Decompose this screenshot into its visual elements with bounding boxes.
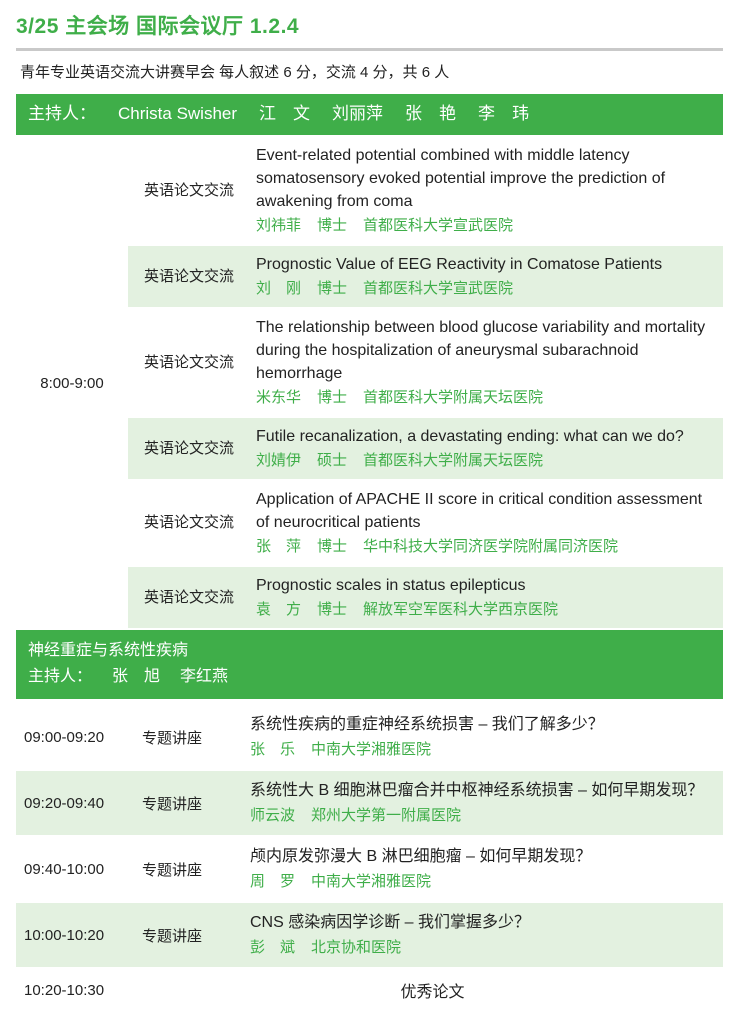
- session-time: 8:00-9:00: [16, 137, 128, 630]
- schedule-row: 09:20-09:40 专题讲座 系统性大 B 细胞淋巴瘤合并中枢神经系统损害 …: [16, 771, 723, 837]
- schedule-row: 10:00-10:20 专题讲座 CNS 感染病因学诊断 – 我们掌握多少？ 彭…: [16, 903, 723, 969]
- chair-name-3: 张 艳: [405, 104, 456, 123]
- chair-name-4: 李 玮: [478, 104, 529, 123]
- row-body: Futile recanalization, a devastating end…: [250, 418, 723, 479]
- paper-speaker: 刘 刚博士首都医科大学宣武医院: [256, 277, 713, 300]
- chair-name-0: Christa Swisher: [118, 104, 237, 123]
- speaker-degree: 博士: [317, 538, 347, 555]
- table-row: 英语论文交流 The relationship between blood gl…: [128, 309, 723, 418]
- paper-speaker: 张 萍博士华中科技大学同济医学院附属同济医院: [256, 535, 713, 558]
- section-band: 神经重症与系统性疾病 主持人：张 旭李红燕: [16, 630, 723, 699]
- speaker-name: 张 萍: [256, 538, 301, 555]
- page-title: 3/25 主会场 国际会议厅 1.2.4: [16, 14, 723, 48]
- row-category: 英语论文交流: [128, 567, 250, 628]
- row-body: The relationship between blood glucose v…: [250, 309, 723, 416]
- speaker-degree: 博士: [317, 601, 347, 618]
- speaker-name: 彭 斌: [250, 939, 295, 956]
- speaker-org: 中南大学湘雅医院: [311, 741, 431, 758]
- speaker-degree: 博士: [317, 389, 347, 406]
- schedule-body: 系统性大 B 细胞淋巴瘤合并中枢神经系统损害 – 如何早期发现？ 师云波郑州大学…: [250, 771, 723, 835]
- schedule-time: 09:00-09:20: [16, 705, 142, 769]
- schedule-time: 10:00-10:20: [16, 903, 142, 967]
- table-row: 英语论文交流 Futile recanalization, a devastat…: [128, 418, 723, 481]
- session-subtitle: 青年专业英语交流大讲赛早会 每人叙述 6 分，交流 4 分，共 6 人: [16, 60, 723, 94]
- paper-title: Prognostic scales in status epilepticus: [256, 574, 713, 597]
- section-chairs: 主持人：张 旭李红燕: [28, 664, 711, 690]
- schedule-time: 09:40-10:00: [16, 837, 142, 901]
- table-row: 英语论文交流 Application of APACHE II score in…: [128, 481, 723, 567]
- schedule-type: 专题讲座: [142, 771, 250, 835]
- session-block: 8:00-9:00 英语论文交流 Event-related potential…: [16, 137, 723, 630]
- section-chair-0: 张 旭: [112, 668, 160, 685]
- schedule-time: 09:20-09:40: [16, 771, 142, 835]
- row-body: Prognostic scales in status epilepticus …: [250, 567, 723, 628]
- speaker-name: 米东华: [256, 389, 301, 406]
- section-chair-label: 主持人：: [28, 668, 92, 685]
- schedule-row: 09:40-10:00 专题讲座 颅内原发弥漫大 B 淋巴细胞瘤 – 如何早期发…: [16, 837, 723, 903]
- schedule-title: 系统性大 B 细胞淋巴瘤合并中枢神经系统损害 – 如何早期发现？: [250, 779, 713, 803]
- speaker-org: 中南大学湘雅医院: [311, 873, 431, 890]
- speaker-org: 解放军空军医科大学西京医院: [363, 601, 558, 618]
- chair-name-1: 江 文: [259, 104, 310, 123]
- schedule-body: 系统性疾病的重症神经系统损害 – 我们了解多少？ 张 乐中南大学湘雅医院: [250, 705, 723, 769]
- schedule-body: 颅内原发弥漫大 B 淋巴细胞瘤 – 如何早期发现？ 周 罗中南大学湘雅医院: [250, 837, 723, 901]
- speaker-name: 张 乐: [250, 741, 295, 758]
- session-rows: 英语论文交流 Event-related potential combined …: [128, 137, 723, 630]
- paper-speaker: 米东华博士首都医科大学附属天坛医院: [256, 386, 713, 409]
- schedule-time: 10:20-10:30: [16, 969, 142, 1011]
- speaker-name: 师云波: [250, 807, 295, 824]
- speaker-org: 首都医科大学附属天坛医院: [363, 389, 543, 406]
- paper-speaker: 袁 方博士解放军空军医科大学西京医院: [256, 598, 713, 621]
- table-row: 英语论文交流 Event-related potential combined …: [128, 137, 723, 246]
- row-body: Event-related potential combined with mi…: [250, 137, 723, 244]
- row-body: Application of APACHE II score in critic…: [250, 481, 723, 565]
- paper-speaker: 刘婧伊硕士首都医科大学附属天坛医院: [256, 449, 713, 472]
- schedule-body: CNS 感染病因学诊断 – 我们掌握多少？ 彭 斌北京协和医院: [250, 903, 723, 967]
- schedule-speaker: 师云波郑州大学第一附属医院: [250, 804, 713, 827]
- schedule-label: 优秀论文: [142, 969, 723, 1011]
- row-category: 英语论文交流: [128, 418, 250, 479]
- row-body: Prognostic Value of EEG Reactivity in Co…: [250, 246, 723, 307]
- speaker-name: 刘 刚: [256, 280, 301, 297]
- chair-label: 主持人：: [28, 104, 96, 123]
- speaker-org: 郑州大学第一附属医院: [311, 807, 461, 824]
- schedule-speaker: 周 罗中南大学湘雅医院: [250, 870, 713, 893]
- speaker-degree: 硕士: [317, 452, 347, 469]
- row-category: 英语论文交流: [128, 481, 250, 565]
- table-row: 英语论文交流 Prognostic scales in status epile…: [128, 567, 723, 630]
- schedule-title: 系统性疾病的重症神经系统损害 – 我们了解多少？: [250, 713, 713, 737]
- row-category: 英语论文交流: [128, 309, 250, 416]
- speaker-org: 华中科技大学同济医学院附属同济医院: [363, 538, 618, 555]
- speaker-name: 周 罗: [250, 873, 295, 890]
- speaker-org: 首都医科大学附属天坛医院: [363, 452, 543, 469]
- schedule-page: 3/25 主会场 国际会议厅 1.2.4 青年专业英语交流大讲赛早会 每人叙述 …: [0, 0, 739, 1024]
- speaker-name: 袁 方: [256, 601, 301, 618]
- chair-name-2: 刘丽萍: [332, 104, 383, 123]
- paper-title: Futile recanalization, a devastating end…: [256, 425, 713, 448]
- speaker-name: 刘祎菲: [256, 217, 301, 234]
- table-row: 英语论文交流 Prognostic Value of EEG Reactivit…: [128, 246, 723, 309]
- schedule-type: 专题讲座: [142, 705, 250, 769]
- schedule-row-final: 10:20-10:30 优秀论文: [16, 969, 723, 1013]
- schedule-title: CNS 感染病因学诊断 – 我们掌握多少？: [250, 911, 713, 935]
- speaker-org: 首都医科大学宣武医院: [363, 280, 513, 297]
- speaker-org: 首都医科大学宣武医院: [363, 217, 513, 234]
- schedule-type: 专题讲座: [142, 837, 250, 901]
- schedule-row: 09:00-09:20 专题讲座 系统性疾病的重症神经系统损害 – 我们了解多少…: [16, 705, 723, 771]
- paper-speaker: 刘祎菲博士首都医科大学宣武医院: [256, 214, 713, 237]
- paper-title: Application of APACHE II score in critic…: [256, 488, 713, 534]
- speaker-org: 北京协和医院: [311, 939, 401, 956]
- speaker-name: 刘婧伊: [256, 452, 301, 469]
- schedule-speaker: 张 乐中南大学湘雅医院: [250, 738, 713, 761]
- schedule-type: 专题讲座: [142, 903, 250, 967]
- section-chair-1: 李红燕: [180, 668, 228, 685]
- speaker-degree: 博士: [317, 217, 347, 234]
- row-category: 英语论文交流: [128, 246, 250, 307]
- paper-title: Event-related potential combined with mi…: [256, 144, 713, 213]
- schedule-title: 颅内原发弥漫大 B 淋巴细胞瘤 – 如何早期发现？: [250, 845, 713, 869]
- paper-title: The relationship between blood glucose v…: [256, 316, 713, 385]
- paper-title: Prognostic Value of EEG Reactivity in Co…: [256, 253, 713, 276]
- section-title: 神经重症与系统性疾病: [28, 638, 711, 664]
- chair-band: 主持人：Christa Swisher江 文刘丽萍张 艳李 玮: [16, 94, 723, 135]
- speaker-degree: 博士: [317, 280, 347, 297]
- schedule-speaker: 彭 斌北京协和医院: [250, 936, 713, 959]
- row-category: 英语论文交流: [128, 137, 250, 244]
- title-divider: [16, 48, 723, 51]
